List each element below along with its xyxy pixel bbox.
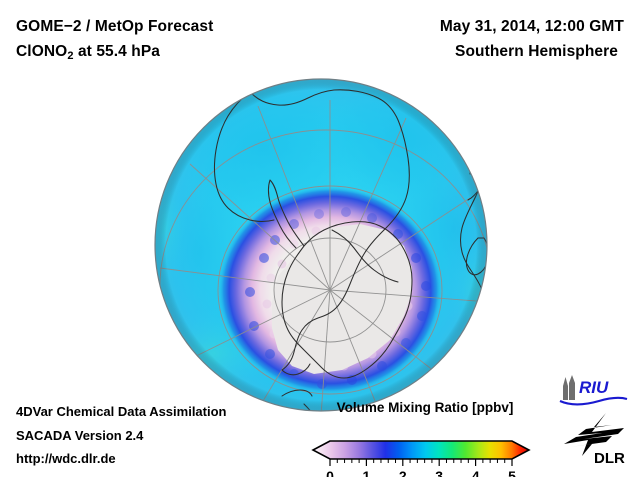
method-label: 4DVar Chemical Data Assimilation xyxy=(16,400,306,424)
species-level-title: ClONO2 at 55.4 hPa xyxy=(16,39,346,69)
colorbar-tick-label: 0 xyxy=(326,468,334,477)
colorbar-title: Volume Mixing Ratio [ppbv] xyxy=(310,400,540,415)
colorbar-tick-label: 2 xyxy=(399,468,407,477)
globe-limb-shading xyxy=(154,78,488,412)
colorbar-block: Volume Mixing Ratio [ppbv] 012345 xyxy=(300,400,540,477)
dlr-wordmark: DLR xyxy=(594,450,625,466)
colorbar-tick-label: 5 xyxy=(508,468,516,477)
riu-logo-svg: RIU xyxy=(557,374,629,406)
colorbar-svg: 012345 xyxy=(300,419,540,477)
header-left-block: GOME−2 / MetOp Forecast ClONO2 at 55.4 h… xyxy=(16,14,346,69)
website-link[interactable]: http://wdc.dlr.de xyxy=(16,447,306,471)
riu-wordmark: RIU xyxy=(579,378,609,397)
colorbar-tick-label: 3 xyxy=(435,468,443,477)
dlr-logo-svg: DLR xyxy=(562,412,632,466)
colorbar-gradient xyxy=(310,439,532,461)
instrument-title: GOME−2 / MetOp Forecast xyxy=(16,14,346,39)
header-right-block: May 31, 2014, 12:00 GMT Southern Hemisph… xyxy=(324,14,624,64)
spires-icon xyxy=(563,375,575,400)
globe-disc-content xyxy=(154,78,488,412)
version-label: SACADA Version 2.4 xyxy=(16,424,306,448)
hemisphere-label: Southern Hemisphere xyxy=(324,39,624,64)
colorbar-tick-label: 4 xyxy=(472,468,480,477)
globe-svg xyxy=(154,78,488,412)
datetime-label: May 31, 2014, 12:00 GMT xyxy=(324,14,624,39)
species-name: ClONO xyxy=(16,43,67,60)
globe-map xyxy=(154,78,488,412)
colorbar-ticks xyxy=(330,459,512,466)
pressure-level: at 55.4 hPa xyxy=(74,43,161,60)
dlr-logo: DLR xyxy=(562,412,632,471)
colorbar-tick-label: 1 xyxy=(363,468,371,477)
colorbar-tick-labels: 012345 xyxy=(326,468,516,477)
footer-left-block: 4DVar Chemical Data Assimilation SACADA … xyxy=(16,400,306,471)
riu-logo: RIU xyxy=(557,374,629,411)
